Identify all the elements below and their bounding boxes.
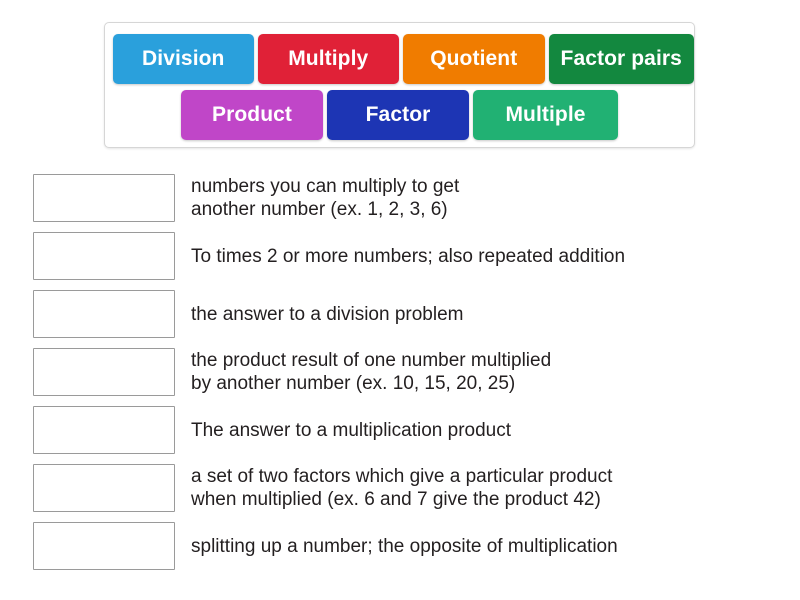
word-bank-panel: DivisionMultiplyQuotientFactor pairs Pro… [104,22,695,148]
definition-text: splitting up a number; the opposite of m… [191,535,773,558]
definition-text: the product result of one number multipl… [191,349,773,395]
answer-drop-box-7[interactable] [33,522,175,570]
answer-drop-box-3[interactable] [33,290,175,338]
answer-drop-box-4[interactable] [33,348,175,396]
word-tile-quotient[interactable]: Quotient [403,34,545,84]
word-tile-multiple[interactable]: Multiple [473,90,618,140]
definition-row: a set of two factors which give a partic… [33,464,773,512]
definition-text: To times 2 or more numbers; also repeate… [191,245,773,268]
word-tile-label: Division [142,47,224,71]
word-tile-label: Factor pairs [561,47,682,71]
answer-drop-box-5[interactable] [33,406,175,454]
word-tile-label: Multiple [505,103,585,127]
word-tile-factorpairs[interactable]: Factor pairs [549,34,694,84]
answer-drop-box-6[interactable] [33,464,175,512]
definition-row: splitting up a number; the opposite of m… [33,522,773,570]
word-tile-label: Quotient [430,47,517,71]
definition-row: the product result of one number multipl… [33,348,773,396]
word-tile-multiply[interactable]: Multiply [258,34,400,84]
definition-row: The answer to a multiplication product [33,406,773,454]
definition-text: The answer to a multiplication product [191,419,773,442]
definition-text: the answer to a division problem [191,303,773,326]
answer-drop-box-2[interactable] [33,232,175,280]
word-tile-division[interactable]: Division [113,34,254,84]
definition-list: numbers you can multiply to get another … [33,174,773,580]
word-tile-label: Factor [366,103,431,127]
answer-drop-box-1[interactable] [33,174,175,222]
word-tile-label: Multiply [288,47,368,71]
definition-row: To times 2 or more numbers; also repeate… [33,232,773,280]
definition-text: a set of two factors which give a partic… [191,465,773,511]
definition-row: numbers you can multiply to get another … [33,174,773,222]
word-tile-label: Product [212,103,292,127]
word-tile-product[interactable]: Product [181,90,323,140]
word-bank-row-2: ProductFactorMultiple [105,87,694,143]
word-tile-factor[interactable]: Factor [327,90,469,140]
word-bank-row-1: DivisionMultiplyQuotientFactor pairs [105,31,694,87]
definition-text: numbers you can multiply to get another … [191,175,773,221]
definition-row: the answer to a division problem [33,290,773,338]
